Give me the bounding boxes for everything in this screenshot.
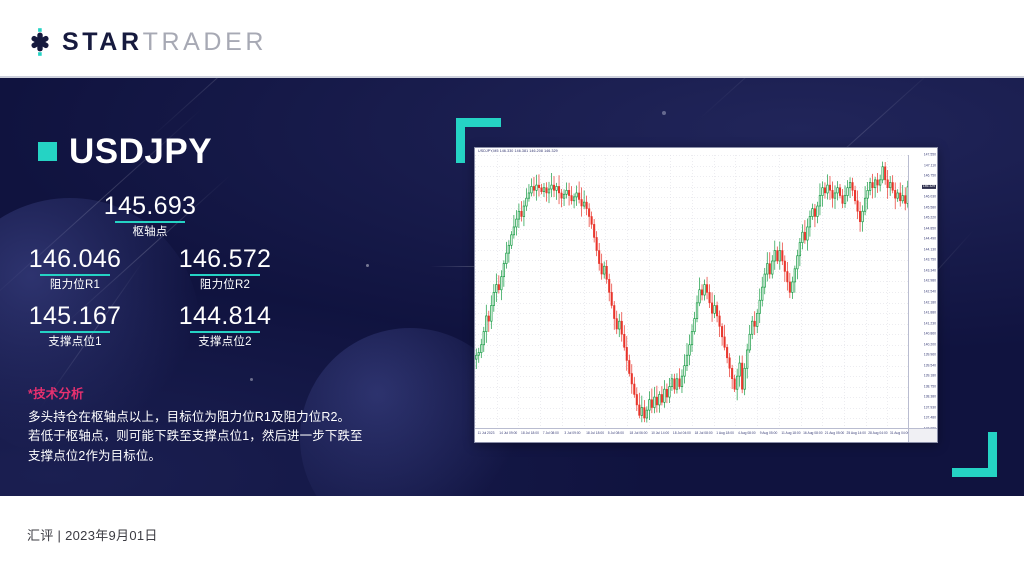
time-tick: 7 Jul 08:00 <box>543 432 559 435</box>
analysis-title: *技术分析 <box>28 383 428 402</box>
slide: STARTRADER USDJPY <box>0 0 1024 576</box>
pivot-underline <box>115 221 185 223</box>
price-tick: 142.540 <box>924 290 936 293</box>
page-title: USDJPY <box>69 134 212 169</box>
footer-text: 汇评 | 2023年9月01日 <box>27 525 158 544</box>
price-tick: 144.490 <box>924 238 936 241</box>
candlestick-series <box>475 155 909 429</box>
title-bullet-icon <box>38 142 57 161</box>
price-chart[interactable]: USDJPY,M5 146.330 146.381 146.208 146.32… <box>474 147 938 443</box>
price-tick: 139.180 <box>924 375 936 378</box>
resistance-2-value: 146.572 <box>150 246 300 272</box>
instrument-title-row: USDJPY <box>38 134 212 169</box>
time-tick: 18 Jul 04:00 <box>673 432 691 435</box>
corner-bracket-bottom-right <box>952 432 997 477</box>
time-tick: 10 Jul 14:00 <box>651 432 669 435</box>
chart-plot-area[interactable] <box>475 155 909 429</box>
resistance-1-underline <box>40 274 110 276</box>
price-tick: 141.230 <box>924 322 936 325</box>
price-tick: 142.180 <box>924 301 936 304</box>
time-tick: 9 Aug 05:00 <box>760 432 778 435</box>
current-price-tag: 146.329 <box>922 185 936 189</box>
price-tick: 137.930 <box>924 406 936 409</box>
price-tick: 147.550 <box>924 153 936 156</box>
analysis-line-2: 若低于枢轴点，则可能下跌至支撑点位1，然后进一步下跌至 <box>28 427 428 446</box>
time-tick: 28 Aug 04:00 <box>868 432 887 435</box>
price-tick: 140.860 <box>924 332 936 335</box>
price-tick: 146.030 <box>924 195 936 198</box>
resistance-2: 146.572 阻力位R2 <box>150 246 300 292</box>
price-tick: 144.850 <box>924 227 936 230</box>
instrument-summary: USDJPY 145.693 枢轴点 146.046 阻力位R1 146.572… <box>0 78 460 496</box>
resistance-2-label: 阻力位R2 <box>150 279 300 292</box>
resistance-1-value: 146.046 <box>0 246 150 272</box>
time-tick: 11 Jul 2023 <box>478 432 495 435</box>
price-tick: 147.110 <box>924 164 936 167</box>
time-tick: 16 Aug 08:00 <box>803 432 822 435</box>
resistance-1-label: 阻力位R1 <box>0 279 150 292</box>
footer: 汇评 | 2023年9月01日 <box>0 496 1024 576</box>
price-tick: 138.380 <box>924 396 936 399</box>
support-2-value: 144.814 <box>150 303 300 329</box>
time-tick: 5 Jul 08:00 <box>608 432 624 435</box>
analysis-line-1: 多头持仓在枢轴点以上，目标位为阻力位R1及阻力位R2。 <box>28 408 428 427</box>
time-tick: 18 Jul 18:00 <box>586 432 604 435</box>
price-tick: 143.340 <box>924 269 936 272</box>
time-tick: 18 Jul 08:00 <box>695 432 713 435</box>
brand-name-bold: STAR <box>62 28 143 56</box>
time-tick: 18 Jul 18:00 <box>521 432 539 435</box>
brand-name-light: TRADER <box>143 28 267 56</box>
time-tick: 31 Aug 04:00 <box>890 432 909 435</box>
header: STARTRADER <box>0 0 1024 78</box>
time-axis: 11 Jul 202314 Jul 09:0018 Jul 18:007 Jul… <box>475 428 909 442</box>
pivot-label: 枢轴点 <box>0 226 300 239</box>
resistance-1: 146.046 阻力位R1 <box>0 246 150 292</box>
time-tick: 4 Aug 08:00 <box>738 432 756 435</box>
support-1-value: 145.167 <box>0 303 150 329</box>
time-tick: 11 Aug 18:00 <box>781 432 800 435</box>
brand-name: STARTRADER <box>62 30 267 55</box>
pivot-level: 145.693 枢轴点 <box>0 193 300 239</box>
price-tick: 146.750 <box>924 174 936 177</box>
price-tick: 140.200 <box>924 343 936 346</box>
brand-logo: STARTRADER <box>25 27 267 57</box>
support-2: 144.814 支撑点位2 <box>150 303 300 349</box>
support-1-underline <box>40 331 110 333</box>
price-tick: 142.980 <box>924 280 936 283</box>
resistance-2-underline <box>190 274 260 276</box>
price-tick: 144.130 <box>924 248 936 251</box>
support-1: 145.167 支撑点位1 <box>0 303 150 349</box>
price-tick: 139.960 <box>924 354 936 357</box>
time-tick: 25 Aug 14:00 <box>847 432 866 435</box>
analysis-line-3: 支撑点位2作为目标位。 <box>28 447 428 466</box>
chart-scrollbar[interactable] <box>908 428 937 442</box>
support-row: 145.167 支撑点位1 144.814 支撑点位2 <box>0 303 300 349</box>
chart-title: USDJPY,M5 146.330 146.381 146.208 146.32… <box>478 149 558 153</box>
resistance-row: 146.046 阻力位R1 146.572 阻力位R2 <box>0 246 300 292</box>
technical-analysis: *技术分析 多头持仓在枢轴点以上，目标位为阻力位R1及阻力位R2。 若低于枢轴点… <box>28 383 428 466</box>
time-tick: 14 Jul 09:00 <box>499 432 517 435</box>
price-tick: 141.880 <box>924 311 936 314</box>
price-tick: 139.540 <box>924 364 936 367</box>
time-tick: 3 Jul 09:00 <box>564 432 580 435</box>
price-tick: 143.750 <box>924 259 936 262</box>
support-2-label: 支撑点位2 <box>150 336 300 349</box>
time-tick: 18 Jul 06:00 <box>630 432 648 435</box>
price-tick: 145.220 <box>924 217 936 220</box>
support-1-label: 支撑点位1 <box>0 336 150 349</box>
time-tick: 1 Aug 18:00 <box>716 432 734 435</box>
price-tick: 138.750 <box>924 385 936 388</box>
star-asterisk-icon <box>25 27 55 57</box>
price-tick: 137.480 <box>924 417 936 420</box>
price-axis: 147.550147.110146.750146.390146.030145.5… <box>908 155 937 429</box>
pivot-value: 145.693 <box>0 193 300 219</box>
support-2-underline <box>190 331 260 333</box>
price-tick: 145.580 <box>924 206 936 209</box>
time-tick: 21 Aug 05:00 <box>825 432 844 435</box>
